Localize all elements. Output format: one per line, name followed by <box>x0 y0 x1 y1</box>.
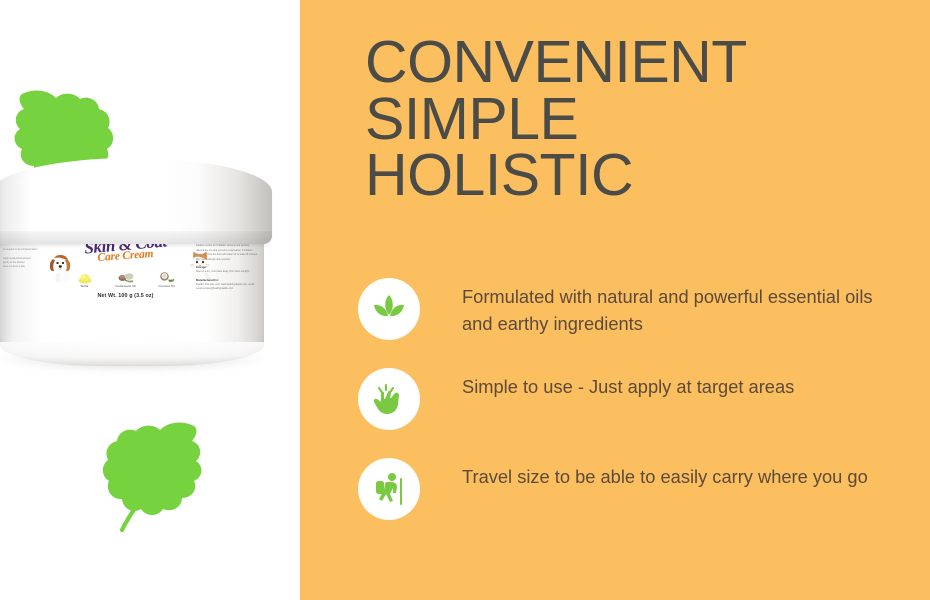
feature-text: Simple to use - Just apply at target are… <box>462 374 882 401</box>
tapping-hand-icon <box>358 368 420 430</box>
feature-item-travel: Travel size to be able to easily carry w… <box>358 458 914 520</box>
headline-line-1: CONVENIENT <box>365 34 905 91</box>
ingredient-item: Cedarwood Oil <box>111 269 141 289</box>
label-dir-line4: as needed or as prompted when <box>3 248 37 251</box>
headline-line-3: HOLISTIC <box>365 147 905 204</box>
coconut-icon <box>152 269 182 284</box>
lid-rim <box>0 231 272 244</box>
ingredient-name: Cedarwood Oil <box>111 285 141 289</box>
hiker-backpack-icon <box>358 458 420 520</box>
label-storage-body: Store in a dry, cool place away from dir… <box>196 270 250 273</box>
label-ingredients: Sulfur <box>58 269 193 289</box>
label-manufactured-body: Healthy Paw Life, web: www.healthypawlif… <box>196 283 255 290</box>
content-panel: CONVENIENT SIMPLE HOLISTIC Formulated wi… <box>300 0 930 600</box>
feature-list: Formulated with natural and powerful ess… <box>358 278 914 548</box>
feature-item-simple: Simple to use - Just apply at target are… <box>358 368 914 430</box>
label-net-weight: Net Wt. 100 g (3.5 oz) <box>58 293 193 299</box>
feature-text: Formulated with natural and powerful ess… <box>462 284 882 337</box>
beagle-puppy-image <box>47 248 75 289</box>
ingredient-name: Coconut Oil <box>152 285 182 289</box>
label-dir-line7: area 1-2 times a day <box>3 265 25 268</box>
feature-text: Travel size to be able to easily carry w… <box>462 464 882 491</box>
leaf-sprout-icon <box>358 278 420 340</box>
label-dir-line5: apply a pea-sized amount <box>3 257 30 260</box>
cedarwood-icon <box>111 269 141 284</box>
ingredient-item: Coconut Oil <box>152 269 182 289</box>
label-dir-line6: gently at the desired <box>3 261 25 264</box>
product-jar: for topical application to soothe and mo… <box>0 158 280 370</box>
lid-highlight <box>14 174 194 191</box>
product-panel: for topical application to soothe and mo… <box>0 0 300 600</box>
jar-lid <box>0 158 272 244</box>
feature-item-natural: Formulated with natural and powerful ess… <box>358 278 914 340</box>
headline-line-2: SIMPLE <box>365 91 905 148</box>
marketing-image: for topical application to soothe and mo… <box>0 0 930 600</box>
jar-bottom-curve <box>0 342 264 366</box>
page-title: CONVENIENT SIMPLE HOLISTIC <box>365 34 905 204</box>
